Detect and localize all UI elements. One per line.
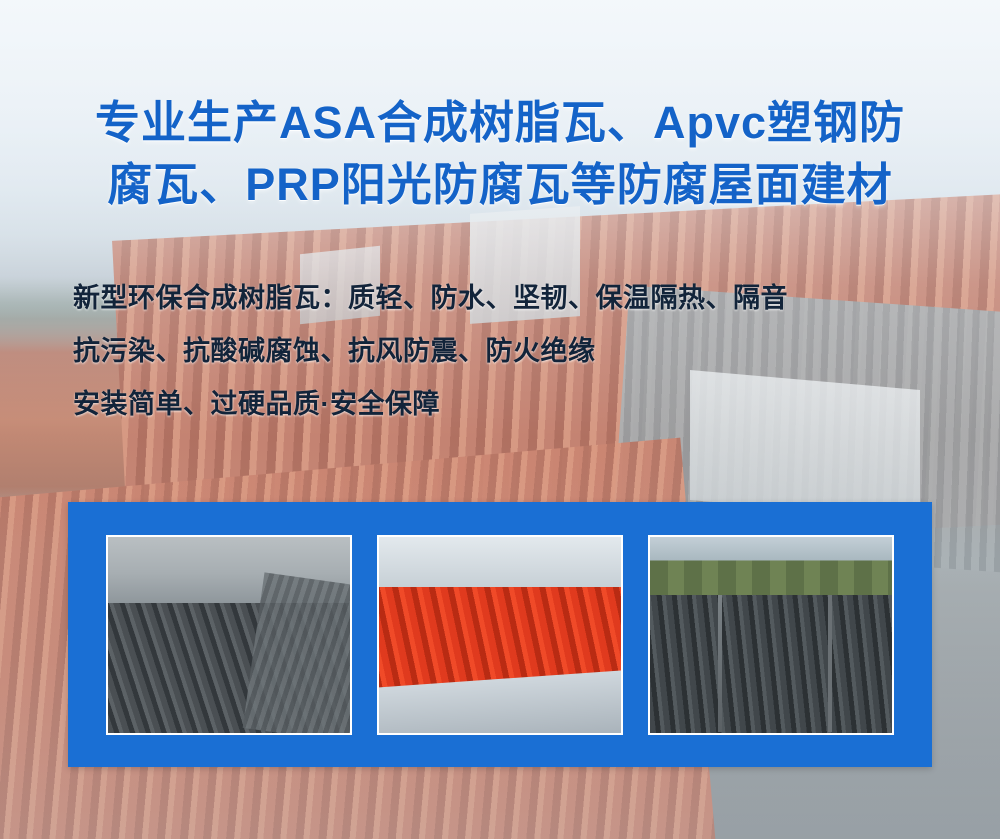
product-banner: 专业生产ASA合成树脂瓦、Apvc塑钢防 腐瓦、PRP阳光防腐瓦等防腐屋面建材 … <box>0 0 1000 839</box>
subcopy-line-1: 新型环保合成树脂瓦：质轻、防水、坚韧、保温隔热、隔音 <box>73 272 788 325</box>
banner-headline: 专业生产ASA合成树脂瓦、Apvc塑钢防 腐瓦、PRP阳光防腐瓦等防腐屋面建材 <box>0 92 1000 216</box>
subcopy-line-3: 安装简单、过硬品质·安全保障 <box>73 378 788 431</box>
banner-subcopy: 新型环保合成树脂瓦：质轻、防水、坚韧、保温隔热、隔音 抗污染、抗酸碱腐蚀、抗风防… <box>73 272 788 431</box>
red-synthetic-resin-roof-photo <box>377 535 623 735</box>
black-tiled-roof-with-trees-photo <box>648 535 894 735</box>
headline-line-2: 腐瓦、PRP阳光防腐瓦等防腐屋面建材 <box>0 154 1000 216</box>
photo-panel <box>68 502 932 767</box>
dark-grey-tiled-roof-photo <box>106 535 352 735</box>
subcopy-line-2: 抗污染、抗酸碱腐蚀、抗风防震、防火绝缘 <box>73 325 788 378</box>
headline-line-1: 专业生产ASA合成树脂瓦、Apvc塑钢防 <box>0 92 1000 154</box>
